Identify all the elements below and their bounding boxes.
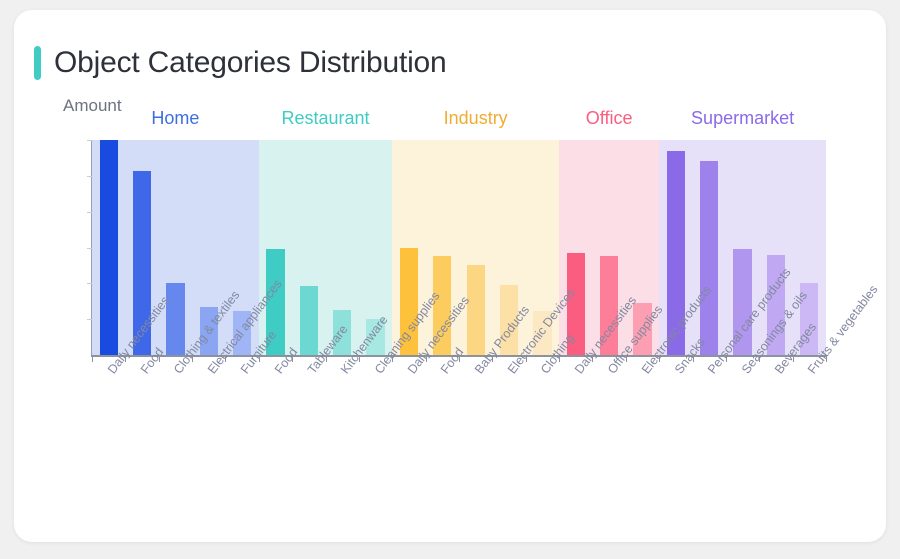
- group-label-industry: Industry: [444, 108, 508, 129]
- group-label-restaurant: Restaurant: [282, 108, 370, 129]
- bar[interactable]: [166, 283, 184, 355]
- group-label-supermarket: Supermarket: [691, 108, 794, 129]
- y-axis-title: Amount: [63, 96, 122, 116]
- x-axis-tick-mark: [92, 355, 93, 362]
- x-axis-labels: Daily necessitiesFoodClothing & textiles…: [92, 366, 900, 546]
- chart-card: Object Categories Distribution Amount 05…: [14, 10, 886, 542]
- bar[interactable]: [700, 161, 718, 355]
- bar[interactable]: [467, 265, 485, 355]
- bar[interactable]: [300, 286, 318, 355]
- bar[interactable]: [100, 140, 118, 355]
- plot-area: 050100150200250300HomeRestaurantIndustry…: [92, 140, 826, 355]
- group-label-office: Office: [586, 108, 633, 129]
- title-accent-bar: [34, 46, 41, 80]
- page-title: Object Categories Distribution: [54, 46, 447, 80]
- group-label-home: Home: [151, 108, 199, 129]
- chart-title-row: Object Categories Distribution: [34, 46, 447, 80]
